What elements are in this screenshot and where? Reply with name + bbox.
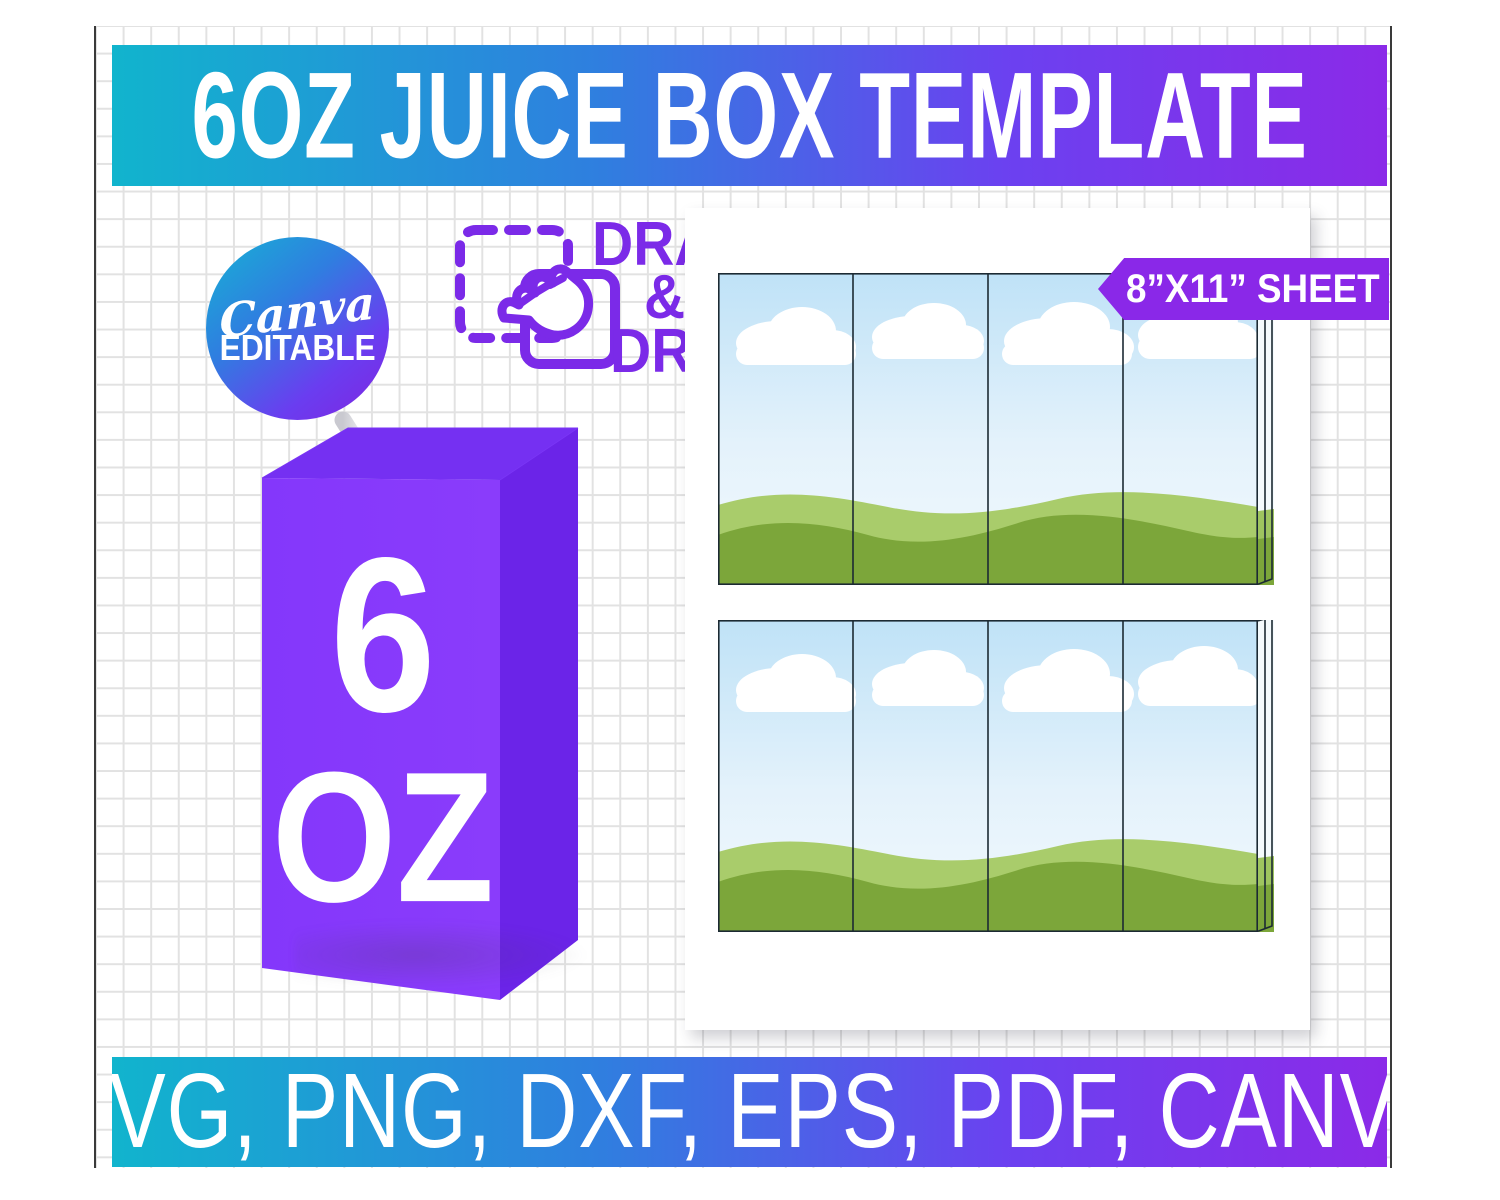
sheet-size-label: 8”X11” SHEET	[1126, 269, 1380, 309]
box-volume-number: 6	[330, 512, 436, 758]
file-formats-banner: SVG, PNG, DXF, EPS, PDF, CANVA	[112, 1057, 1387, 1167]
juice-box-mockup: 6 OZ	[240, 400, 600, 1040]
poster-canvas: 6OZ JUICE BOX TEMPLATE Canva EDITABLE	[0, 0, 1500, 1200]
canva-editable-label: EDITABLE	[219, 330, 375, 366]
template-row	[718, 620, 1274, 932]
page-title: 6OZ JUICE BOX TEMPLATE	[191, 54, 1307, 177]
box-volume-unit: OZ	[272, 733, 494, 941]
file-formats-label: SVG, PNG, DXF, EPS, PDF, CANVA	[112, 1059, 1387, 1165]
template-artwork	[718, 620, 1262, 932]
canva-editable-badge: Canva EDITABLE	[206, 237, 389, 420]
box-side-face	[500, 428, 578, 1000]
printable-template-sheet	[685, 208, 1310, 1030]
title-banner: 6OZ JUICE BOX TEMPLATE	[112, 45, 1387, 186]
juice-box-shadow	[295, 920, 595, 990]
sheet-size-ribbon: 8”X11” SHEET	[1098, 258, 1389, 320]
